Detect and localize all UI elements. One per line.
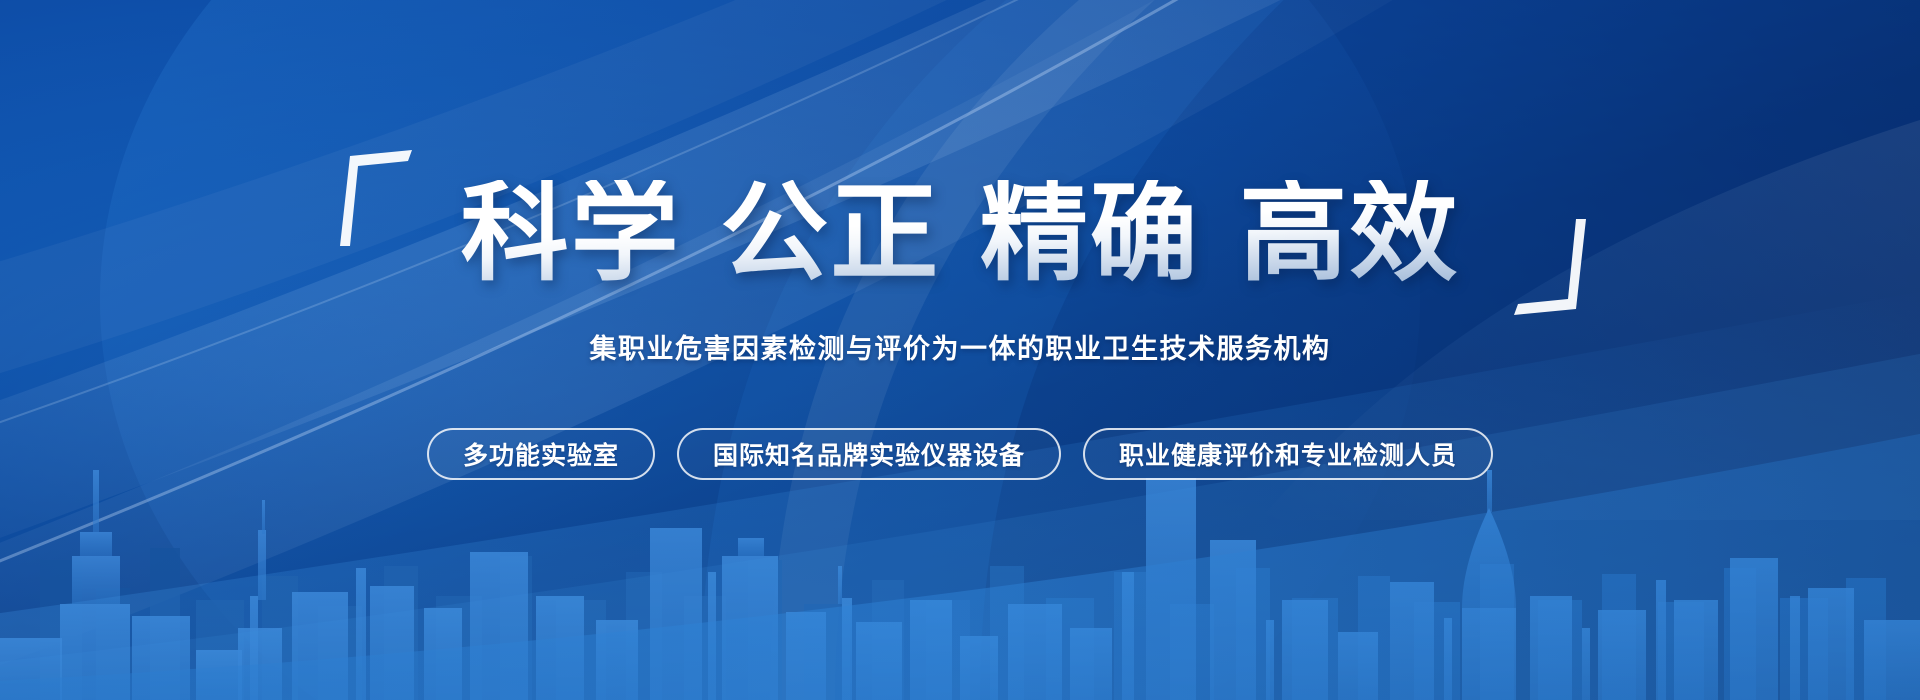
- banner-content: 科学 公正 精确 高效 集职业危害因素检测与评价为一体的职业卫生技术服务机构 多…: [0, 0, 1920, 700]
- hero-banner: 科学 公正 精确 高效 集职业危害因素检测与评价为一体的职业卫生技术服务机构 多…: [0, 0, 1920, 700]
- corner-bracket-open-icon: [338, 150, 412, 246]
- feature-tag-list: 多功能实验室 国际知名品牌实验仪器设备 职业健康评价和专业检测人员: [427, 428, 1493, 480]
- headline-block: 科学 公正 精确 高效: [350, 166, 1570, 301]
- feature-tag-lab[interactable]: 多功能实验室: [427, 428, 655, 480]
- banner-subtitle: 集职业危害因素检测与评价为一体的职业卫生技术服务机构: [590, 327, 1331, 366]
- feature-tag-equipment[interactable]: 国际知名品牌实验仪器设备: [677, 428, 1061, 480]
- corner-bracket-close-icon: [1514, 219, 1588, 315]
- page-title: 科学 公正 精确 高效: [461, 180, 1460, 288]
- feature-tag-personnel[interactable]: 职业健康评价和专业检测人员: [1083, 428, 1493, 480]
